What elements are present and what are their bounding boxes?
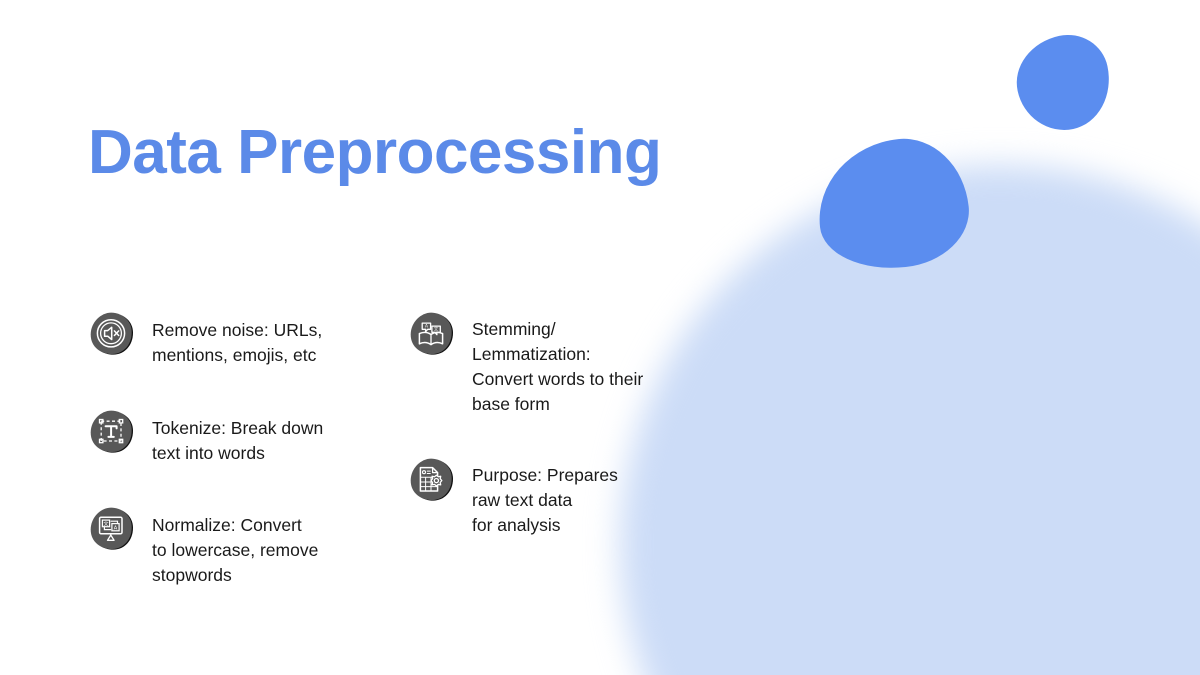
list-item-label: Normalize: Convert to lowercase, remove …	[152, 503, 318, 588]
bullet-columns: Remove noise: URLs, mentions, emojis, et…	[88, 308, 728, 588]
svg-text:A: A	[114, 526, 118, 532]
list-item: Tokenize: Break down text into words	[88, 406, 378, 466]
text-box-t-icon	[88, 408, 136, 456]
list-item: Remove noise: URLs, mentions, emojis, et…	[88, 308, 378, 368]
list-item: Purpose: Prepares raw text data for anal…	[408, 454, 698, 538]
svg-text:文: 文	[434, 326, 439, 333]
mute-speaker-icon	[88, 310, 136, 358]
bullet-column-left: Remove noise: URLs, mentions, emojis, et…	[88, 308, 378, 588]
blob-small-top-right-shape	[1008, 27, 1119, 138]
list-item: 文 A Normalize: Convert to lowercase, rem…	[88, 503, 378, 588]
bullet-column-right: A 文 Stemming/ Lemmatization: Convert wor…	[408, 308, 698, 588]
dictionary-book-icon: A 文	[408, 310, 456, 358]
slide-canvas: Data Preprocessing Remove noise: URLs, m…	[0, 0, 1200, 675]
svg-text:文: 文	[103, 520, 109, 528]
list-item-label: Purpose: Prepares raw text data for anal…	[472, 454, 618, 538]
document-gear-icon	[408, 456, 456, 504]
list-item-label: Stemming/ Lemmatization: Convert words t…	[472, 308, 643, 416]
blob-large-top-right-shape	[812, 133, 975, 276]
list-item-label: Remove noise: URLs, mentions, emojis, et…	[152, 308, 322, 368]
page-title: Data Preprocessing	[88, 120, 661, 185]
translate-characters-icon: 文 A	[88, 505, 136, 553]
list-item-label: Tokenize: Break down text into words	[152, 406, 323, 466]
list-item: A 文 Stemming/ Lemmatization: Convert wor…	[408, 308, 698, 416]
